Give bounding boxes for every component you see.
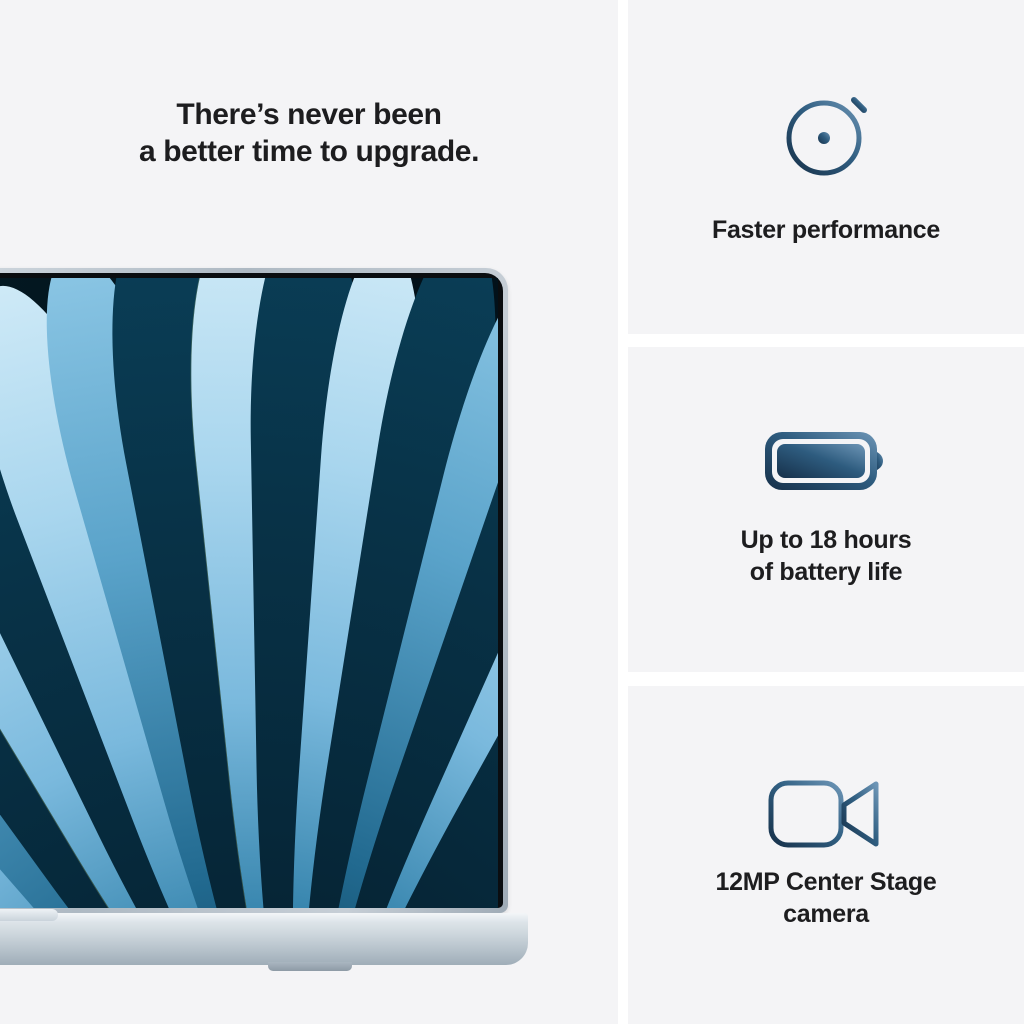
laptop-base-edge [0,913,528,922]
desktop-wallpaper [0,278,498,908]
stopwatch-icon [778,76,874,180]
macbook-product-image [0,268,508,1008]
laptop-screen [0,278,498,908]
video-camera-icon [766,771,886,855]
feature-panel-camera[interactable]: 12MP Center Stage camera [628,686,1024,1024]
feature-label-camera: 12MP Center Stage camera [628,866,1024,930]
feature-panel-performance[interactable]: Faster performance [628,0,1024,334]
laptop-base-lip [0,909,58,921]
feature-panel-battery[interactable]: Up to 18 hours of battery life [628,347,1024,672]
feature-label-line-1: Faster performance [628,214,1024,246]
video-camera-icon-wrapper [628,758,1024,868]
battery-icon-wrapper [628,401,1024,521]
page-headline: There’s never been a better time to upgr… [0,96,618,170]
feature-label-line-1: 12MP Center Stage [628,866,1024,898]
laptop-foot [268,962,352,971]
feature-label-performance: Faster performance [628,214,1024,246]
feature-label-line-2: of battery life [628,556,1024,588]
headline-line-2: a better time to upgrade. [0,133,618,170]
feature-label-battery: Up to 18 hours of battery life [628,524,1024,588]
laptop-lid [0,268,508,913]
feature-label-line-1: Up to 18 hours [628,524,1024,556]
battery-icon [761,422,891,500]
feature-label-line-2: camera [628,898,1024,930]
stopwatch-icon-wrapper [628,68,1024,188]
display-bezel [0,273,503,908]
headline-line-1: There’s never been [0,96,618,133]
hero-panel: There’s never been a better time to upgr… [0,0,618,1024]
